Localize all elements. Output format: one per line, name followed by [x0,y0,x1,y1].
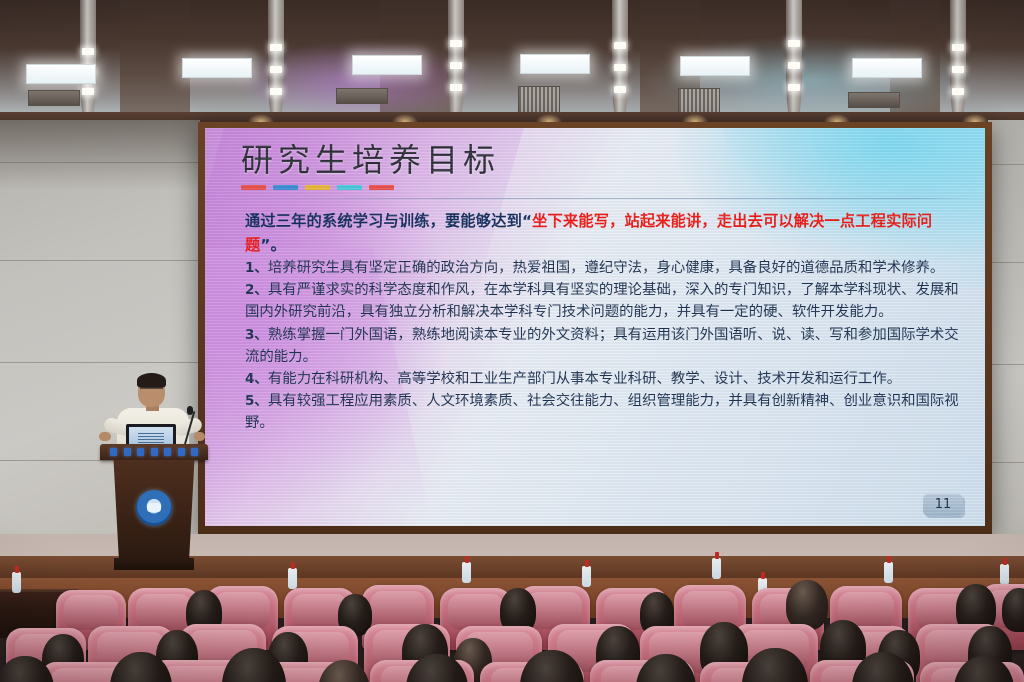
podium-nameplate [110,447,198,456]
speaker-at-podium [96,372,212,587]
ceiling-light-panel [520,54,590,74]
lead-open-quote: “ [522,212,532,230]
slide-title: 研究生培养目标 [241,138,500,182]
ceiling-beam [80,0,96,120]
ceiling-beam [268,0,284,120]
paragraph-text: 熟练掌握一门外国语，熟练地阅读本专业的外文资料；具有运用该门外国语听、说、读、写… [245,327,959,365]
lead-close-quote: ” [260,236,270,254]
rule-dash-3 [305,185,330,190]
slide-lead-statement: 通过三年的系统学习与训练，要能够达到“坐下来能写，站起来能讲，走出去可以解决一点… [245,210,969,257]
podium-glyph [124,448,131,456]
wall-shadow [0,120,200,190]
title-decorative-rule [241,185,394,190]
paragraph-number: 2、 [245,282,268,298]
slide-paragraph: 5、具有较强工程应用素质、人文环境素质、社会交往能力、组织管理能力，并具有创新精… [245,390,969,434]
glasses-icon [140,387,163,392]
audience-seating [0,560,1024,682]
podium-glyph [178,448,185,456]
microphone-icon [187,406,193,415]
paragraph-text: 有能力在科研机构、高等学校和工业生产部门从事本专业科研、教学、设计、技术开发和运… [268,371,901,387]
podium-glyph [110,448,117,456]
slide-page-number: 11 [923,494,963,516]
auditorium-photo: 研究生培养目标 通过三年的系统学习与训练，要能够达到“坐下来能写，站起来能讲，走… [0,0,1024,682]
podium-glyph [164,448,171,456]
paragraph-number: 5、 [245,393,268,409]
lead-plain-1: 通过三年的系统学习与训练，要能够达到 [245,212,522,230]
ceiling-beam [612,0,628,120]
right-wall [988,120,1024,580]
paragraph-text: 具有较强工程应用素质、人文环境素质、社会交往能力、组织管理能力，并具有创新精神、… [245,393,959,431]
paragraph-number: 1、 [245,260,268,276]
ceiling-beam [950,0,966,120]
podium-glyph [151,448,158,456]
ceiling-beam [786,0,802,120]
rule-dash-5 [369,185,394,190]
projection-screen-frame: 研究生培养目标 通过三年的系统学习与训练，要能够达到“坐下来能写，站起来能讲，走… [198,122,992,534]
slide-paragraph: 3、熟练掌握一门外国语，熟练地阅读本专业的外文资料；具有运用该门外国语听、说、读… [245,324,969,368]
slide-paragraph: 2、具有严谨求实的科学态度和作风，在本学科具有坚实的理论基础，深入的专门知识，了… [245,279,969,323]
rule-dash-2 [273,185,298,190]
ceiling-light-panel [26,64,96,84]
ceiling-light-panel [182,58,252,78]
speaker-right-hand [194,432,205,441]
ceiling-air-vent [336,88,388,104]
ceiling-light-panel [352,55,422,75]
slide-body: 通过三年的系统学习与训练，要能够达到“坐下来能写，站起来能讲，走出去可以解决一点… [245,210,969,435]
university-emblem-icon [136,490,172,526]
audience-head [1002,588,1024,632]
ceiling-light-panel [680,56,750,76]
ceiling-air-vent [28,90,80,106]
paragraph-text: 具有严谨求实的科学态度和作风，在本学科具有坚实的理论基础，深入的专门知识，了解本… [245,282,959,320]
ceiling-light-panel [852,58,922,78]
paragraph-number: 4、 [245,371,268,387]
paragraph-number: 3、 [245,327,268,343]
title-hairline [241,198,975,199]
audience-head [786,580,828,630]
presentation-slide: 研究生培养目标 通过三年的系统学习与训练，要能够达到“坐下来能写，站起来能讲，走… [205,128,985,526]
ceiling-beam [448,0,464,120]
speaker-left-hand [99,432,111,441]
slide-paragraph: 1、培养研究生具有坚定正确的政治方向，热爱祖国，遵纪守法，身心健康，具备良好的道… [245,257,969,279]
ceiling [0,0,1024,120]
rule-dash-4 [337,185,362,190]
lead-plain-2: 。 [271,236,286,254]
podium-glyph [137,448,144,456]
podium-glyph [191,448,198,456]
speaker-hair [137,373,166,388]
rule-dash-1 [241,185,266,190]
slide-paragraph: 4、有能力在科研机构、高等学校和工业生产部门从事本专业科研、教学、设计、技术开发… [245,368,969,390]
paragraph-text: 培养研究生具有坚定正确的政治方向，热爱祖国，遵纪守法，身心健康，具备良好的道德品… [268,260,944,276]
ceiling-air-vent [848,92,900,108]
